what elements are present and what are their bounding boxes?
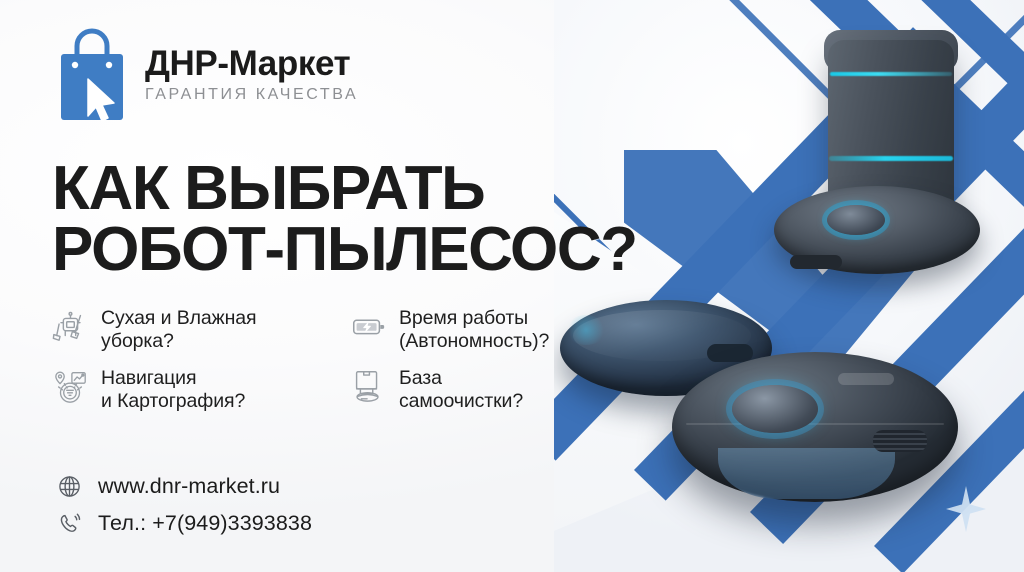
phone-icon (55, 509, 83, 537)
battery-charging-icon (348, 306, 388, 346)
dock-station-icon (348, 366, 388, 406)
feature-item-navigation-mapping: Навигация и Картография? (50, 366, 348, 412)
front-robot-water-tank (718, 448, 895, 499)
globe-icon (55, 472, 83, 500)
feature-label: База самоочистки? (399, 366, 523, 412)
front-robot-lidar (732, 385, 818, 433)
brand-tagline: ГАРАНТИЯ КАЧЕСТВА (145, 87, 358, 103)
map-navigation-icon (50, 366, 90, 406)
robot-vacuum-lidar-front (672, 352, 958, 502)
headline: КАК ВЫБРАТЬ РОБОТ-ПЫЛЕСОС? (52, 158, 637, 281)
feature-label: Сухая и Влажная уборка? (101, 306, 256, 352)
robot-vacuum-with-self-empty-dock (776, 18, 1006, 288)
phone-number: Тел.: +7(949)3393838 (98, 511, 312, 536)
website-url: www.dnr-market.ru (98, 474, 280, 499)
content-column: ДНР-Маркет ГАРАНТИЯ КАЧЕСТВА КАК ВЫБРАТЬ… (0, 0, 640, 572)
promo-banner: ДНР-Маркет ГАРАНТИЯ КАЧЕСТВА КАК ВЫБРАТЬ… (0, 0, 1024, 572)
feature-line-2: самоочистки? (399, 390, 523, 412)
feature-item-dry-wet-cleaning: Сухая и Влажная уборка? (50, 306, 348, 352)
brand-text: ДНР-Маркет ГАРАНТИЯ КАЧЕСТВА (145, 45, 358, 102)
feature-line-2: и Картография? (101, 390, 245, 412)
feature-label: Время работы (Автономность)? (399, 306, 549, 352)
brand-title: ДНР-Маркет (145, 45, 358, 82)
docked-robot-lidar (827, 205, 885, 235)
front-robot-seam (686, 423, 943, 425)
feature-line-2: уборка? (101, 330, 174, 352)
feature-line-1: Навигация (101, 367, 196, 389)
dock-led-seam (830, 72, 952, 76)
robot-broom-icon (50, 306, 90, 346)
headline-line-1: КАК ВЫБРАТЬ (52, 158, 637, 219)
docked-robot (774, 186, 980, 274)
dock-led-ring (829, 156, 953, 161)
headline-line-2: РОБОТ-ПЫЛЕСОС? (52, 219, 637, 280)
feature-line-1: Сухая и Влажная (101, 307, 256, 329)
front-robot-grill (873, 430, 927, 452)
front-robot-buttons (838, 373, 894, 385)
contact-phone[interactable]: Тел.: +7(949)3393838 (55, 509, 312, 537)
feature-item-battery-life: Время работы (Автономность)? (348, 306, 610, 352)
feature-label: Навигация и Картография? (101, 366, 245, 412)
contact-website[interactable]: www.dnr-market.ru (55, 472, 312, 500)
feature-item-self-cleaning-base: База самоочистки? (348, 366, 610, 412)
feature-line-1: Время работы (399, 307, 528, 329)
feature-line-2: (Автономность)? (399, 330, 549, 352)
docked-robot-bumper (790, 255, 842, 269)
feature-list: Сухая и Влажная уборка? Время работы ( (50, 306, 610, 412)
brand-logo[interactable]: ДНР-Маркет ГАРАНТИЯ КАЧЕСТВА (55, 24, 358, 124)
contact-block: www.dnr-market.ru Тел.: +7(949)3393838 (55, 472, 312, 546)
feature-line-1: База (399, 367, 442, 389)
shopping-bag-cursor-icon (55, 24, 129, 124)
